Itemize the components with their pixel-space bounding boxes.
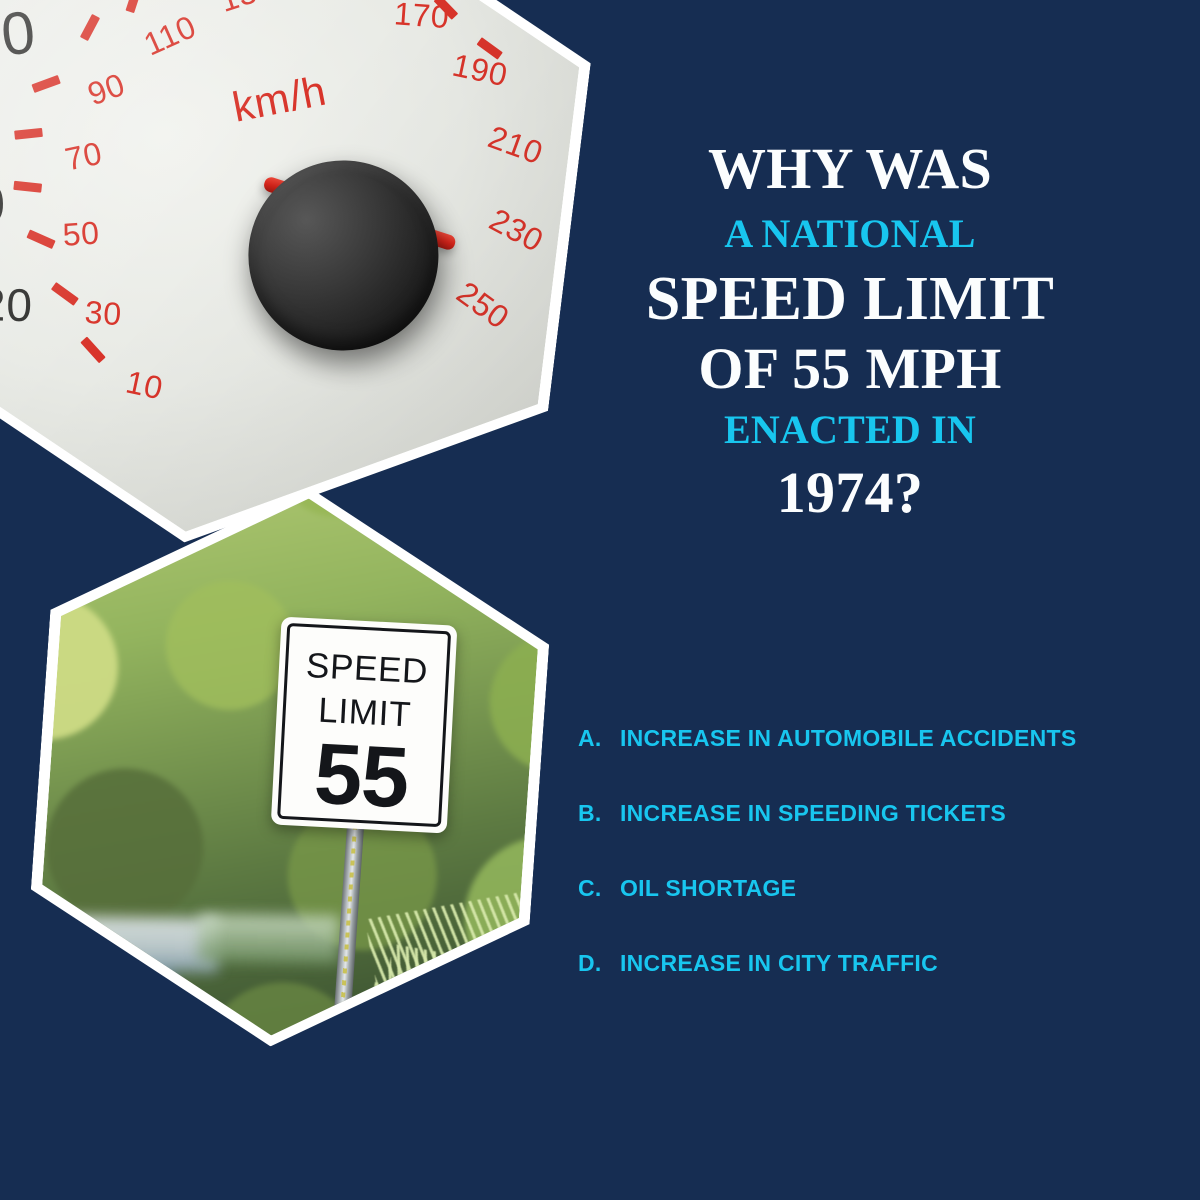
kmh-tick: [80, 336, 105, 363]
answer-label-b: INCREASE IN SPEEDING TICKETS: [620, 800, 1006, 827]
kmh-tick: [434, 0, 459, 20]
answer-label-a: INCREASE IN AUTOMOBILE ACCIDENTS: [620, 725, 1077, 752]
mph-label-20: 20: [0, 277, 33, 332]
kmh-label-130: 130: [215, 0, 279, 20]
speed-limit-sign: SPEED LIMIT 55: [271, 617, 458, 834]
mph-label-30: 30: [0, 173, 7, 236]
mph-label-40: 40: [0, 89, 1, 151]
answer-key-b: B.: [578, 800, 620, 827]
kmh-tick: [477, 37, 503, 60]
headline-line-6: 1974?: [590, 464, 1110, 522]
kmh-label-230: 230: [483, 201, 549, 260]
speed-sign-photo-clip: SPEED LIMIT 55: [33, 482, 547, 1052]
kmh-label-190: 190: [449, 47, 511, 95]
kmh-label-110: 110: [138, 8, 201, 63]
sign-line-speed: SPEED: [278, 647, 456, 691]
answer-option-b[interactable]: B. INCREASE IN SPEEDING TICKETS: [578, 800, 1178, 827]
speedometer-photo-clip: 20 30 40 50 60 70 80 MPH: [0, 0, 600, 572]
poster-canvas: 20 30 40 50 60 70 80 MPH: [0, 0, 1200, 1200]
answer-label-d: INCREASE IN CITY TRAFFIC: [620, 950, 938, 977]
headline-line-3: SPEED LIMIT: [590, 268, 1110, 330]
answer-key-a: A.: [578, 725, 620, 752]
kmh-unit-label: km/h: [229, 67, 331, 132]
needle-hub: [233, 145, 453, 365]
kmh-label-50: 50: [62, 214, 101, 253]
answer-key-c: C.: [578, 875, 620, 902]
answer-option-a[interactable]: A. INCREASE IN AUTOMOBILE ACCIDENTS: [578, 725, 1178, 752]
kmh-tick: [14, 128, 43, 140]
background-blurred-blue-sign: [41, 965, 172, 1007]
kmh-tick: [26, 229, 55, 249]
kmh-tick: [125, 0, 142, 13]
kmh-label-30: 30: [84, 294, 123, 333]
sign-value-55: 55: [271, 728, 451, 823]
fern-frond: [346, 981, 548, 1052]
page-title: WHY WAS A NATIONAL SPEED LIMIT OF 55 MPH…: [590, 140, 1110, 522]
kmh-label-70: 70: [62, 135, 106, 179]
headline-line-1: WHY WAS: [590, 140, 1110, 198]
headline-line-2: A NATIONAL: [590, 214, 1110, 254]
headline-line-4: OF 55 MPH: [590, 340, 1110, 398]
kmh-label-210: 210: [483, 119, 548, 173]
kmh-tick: [13, 181, 42, 193]
kmh-label-90: 90: [83, 66, 130, 113]
answer-label-c: OIL SHORTAGE: [620, 875, 796, 902]
speedometer-dial: 20 30 40 50 60 70 80 MPH: [0, 0, 600, 572]
background-blurred-white-sign: [68, 916, 219, 973]
answer-options-list: A. INCREASE IN AUTOMOBILE ACCIDENTS B. I…: [578, 725, 1178, 977]
kmh-tick: [80, 14, 100, 41]
needle-lower: [262, 175, 457, 251]
kmh-label-150: 150: [316, 0, 375, 6]
answer-key-d: D.: [578, 950, 620, 977]
fern-frond: [381, 944, 547, 1046]
background-blurred-green-sign: [199, 914, 340, 964]
kmh-label-250: 250: [450, 274, 516, 336]
answer-option-c[interactable]: C. OIL SHORTAGE: [578, 875, 1178, 902]
hub-shadow: [224, 140, 490, 406]
kmh-label-170: 170: [393, 0, 451, 36]
mph-label-50: 50: [0, 0, 40, 73]
speed-limit-sign-hexagon-photo: SPEED LIMIT 55: [21, 470, 559, 1064]
kmh-label-10: 10: [123, 364, 167, 408]
headline-line-5: ENACTED IN: [590, 410, 1110, 450]
answer-option-d[interactable]: D. INCREASE IN CITY TRAFFIC: [578, 950, 1178, 977]
kmh-tick: [31, 75, 60, 93]
kmh-tick: [51, 282, 79, 306]
